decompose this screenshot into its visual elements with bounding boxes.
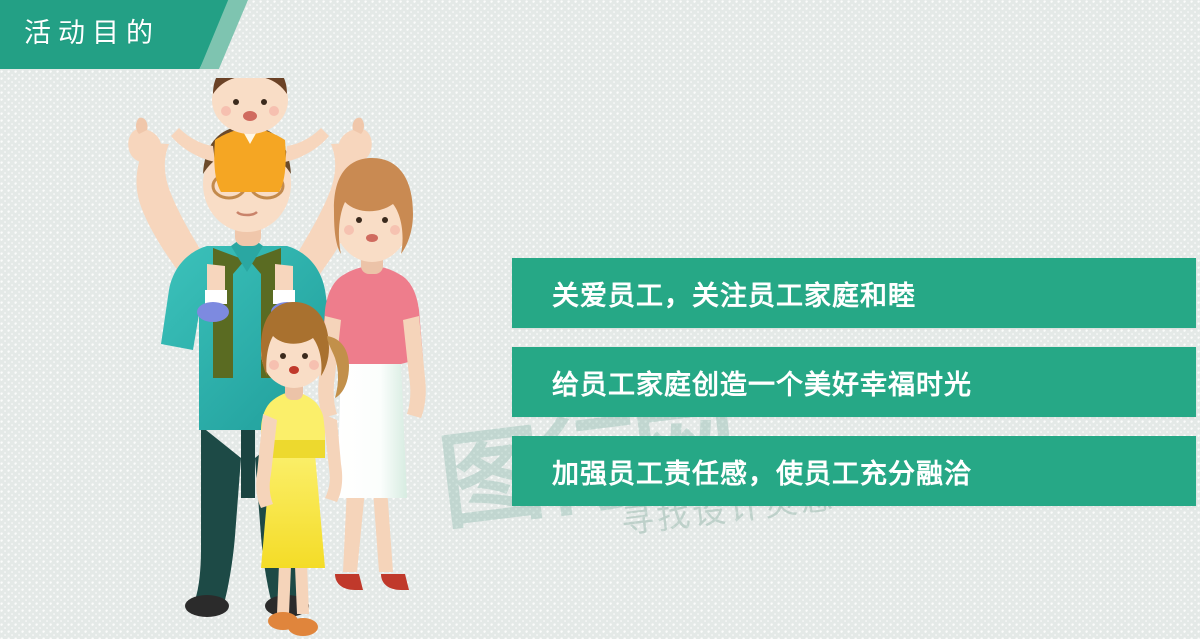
father-leg-gap [241,426,255,498]
girl-left-leg [277,564,291,614]
girl-right-eye [302,353,308,359]
boy-right-blush [269,106,279,116]
father-left-shoe [185,595,229,617]
slide-canvas: 活动目的 图行网 寻找设计灵感 [0,0,1200,639]
boy-left-shoe [197,302,229,322]
statement-bar[interactable]: 加强员工责任感，使员工充分融洽 [512,436,1196,506]
statement-bar[interactable]: 关爱员工，关注员工家庭和睦 [512,258,1196,328]
boy-left-sock [205,290,227,304]
figure-mother [318,158,426,590]
girl-right-shoe [288,618,318,636]
statement-text: 给员工家庭创造一个美好幸福时光 [552,363,972,402]
father-left-leg [195,426,241,600]
mother-right-eye [382,217,388,223]
boy-right-sock [273,290,295,304]
boy-right-leg [275,264,293,294]
boy-left-eye [233,99,239,105]
section-header-banner: 活动目的 [0,0,246,69]
mother-right-shoe [381,574,409,590]
boy-head [212,78,288,134]
statement-text: 关爱员工，关注员工家庭和睦 [552,274,916,313]
mother-right-leg [373,488,393,572]
girl-left-eye [280,353,286,359]
statement-bar[interactable]: 给员工家庭创造一个美好幸福时光 [512,347,1196,417]
mother-left-eye [356,217,362,223]
statement-text: 加强员工责任感，使员工充分融洽 [552,452,972,491]
mother-left-leg [343,488,365,572]
page-title: 活动目的 [24,16,160,50]
mother-right-blush [390,225,400,235]
girl-mouth [289,366,299,374]
father-right-hand [339,129,372,162]
father-left-hand [128,129,161,162]
mother-left-blush [344,225,354,235]
boy-right-eye [261,99,267,105]
boy-left-leg [207,264,225,294]
family-illustration [95,78,450,639]
statement-bar-list: 关爱员工，关注员工家庭和睦 给员工家庭创造一个美好幸福时光 加强员工责任感，使员… [512,258,1196,506]
mother-left-shoe [335,574,363,590]
boy-mouth [243,111,257,121]
mother-right-arm [403,316,426,418]
girl-right-blush [309,360,319,370]
mother-mouth [366,234,378,242]
girl-left-blush [269,360,279,370]
girl-right-leg [295,564,309,614]
boy-right-arm [285,128,329,162]
boy-left-arm [171,128,215,162]
mother-skirt [337,364,407,498]
boy-left-blush [221,106,231,116]
